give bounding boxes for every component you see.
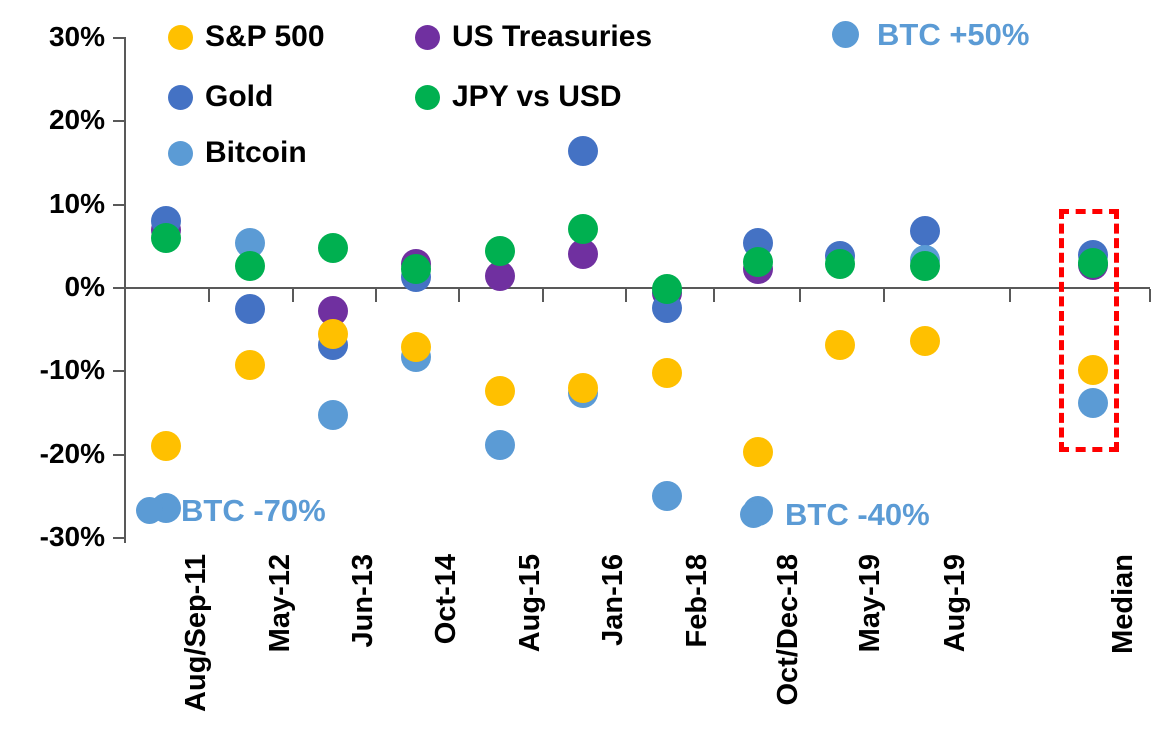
data-point bbox=[235, 294, 265, 324]
y-axis-label: 30% bbox=[9, 23, 105, 51]
gold-swatch-icon bbox=[168, 85, 193, 110]
x-axis-label: Jan-16 bbox=[597, 554, 630, 646]
scatter-chart: 30%20%10%0%-10%-20%-30% Aug/Sep-11May-12… bbox=[0, 0, 1151, 739]
y-axis-tick bbox=[113, 370, 124, 372]
legend-item-sp500[interactable]: S&P 500 bbox=[168, 22, 325, 52]
data-point bbox=[568, 214, 598, 244]
y-axis-label: -10% bbox=[9, 356, 105, 384]
y-axis-tick bbox=[113, 537, 124, 539]
data-point bbox=[1078, 248, 1108, 278]
y-axis-tick bbox=[113, 120, 124, 122]
annotation-btc-minus-40: BTC -40% bbox=[740, 499, 930, 530]
legend-item-jpy-vs-usd[interactable]: JPY vs USD bbox=[415, 82, 622, 112]
x-axis-tick bbox=[625, 289, 627, 302]
legend-label: Gold bbox=[205, 82, 273, 112]
x-axis-label: Aug-19 bbox=[939, 554, 972, 652]
x-axis-tick bbox=[458, 289, 460, 302]
y-axis-label: 20% bbox=[9, 106, 105, 134]
sp500-swatch-icon bbox=[168, 25, 193, 50]
data-point bbox=[910, 326, 940, 356]
data-point bbox=[743, 437, 773, 467]
data-point bbox=[1078, 355, 1108, 385]
x-axis-label: May-19 bbox=[854, 554, 887, 652]
legend-item-gold[interactable]: Gold bbox=[168, 82, 273, 112]
data-point bbox=[1078, 388, 1108, 418]
y-axis-label: -30% bbox=[9, 523, 105, 551]
legend-label: S&P 500 bbox=[205, 22, 325, 52]
data-point bbox=[235, 350, 265, 380]
y-axis-tick bbox=[113, 37, 124, 39]
data-point bbox=[910, 216, 940, 246]
data-point bbox=[568, 373, 598, 403]
annotation-label: BTC -70% bbox=[181, 495, 326, 526]
y-axis-tick bbox=[113, 204, 124, 206]
us-treasuries-swatch-icon bbox=[415, 25, 440, 50]
data-point bbox=[743, 247, 773, 277]
y-axis-tick bbox=[113, 454, 124, 456]
x-axis-label: Aug-15 bbox=[514, 554, 547, 652]
data-point bbox=[318, 233, 348, 263]
x-axis-label: Median bbox=[1107, 554, 1140, 654]
data-point bbox=[401, 254, 431, 284]
data-point bbox=[825, 330, 855, 360]
bitcoin-swatch-icon bbox=[168, 141, 193, 166]
data-point bbox=[910, 251, 940, 281]
annotation-btc-minus-70: BTC -70% bbox=[136, 495, 326, 526]
x-axis-tick bbox=[713, 289, 715, 302]
legend-label: US Treasuries bbox=[452, 22, 652, 52]
data-point bbox=[652, 274, 682, 304]
data-point bbox=[485, 236, 515, 266]
annotation-label: BTC +50% bbox=[877, 19, 1029, 50]
legend-label: Bitcoin bbox=[205, 138, 307, 168]
x-axis-tick bbox=[1009, 289, 1011, 302]
annotation-label: BTC -40% bbox=[785, 499, 930, 530]
x-axis-label: Jun-13 bbox=[347, 554, 380, 647]
jpy-vs-usd-swatch-icon bbox=[415, 85, 440, 110]
annotation-btc-plus-50: BTC +50% bbox=[832, 19, 1029, 50]
data-point bbox=[485, 376, 515, 406]
btc-dot-icon bbox=[740, 501, 767, 528]
y-axis-label: -20% bbox=[9, 440, 105, 468]
x-axis-tick bbox=[292, 289, 294, 302]
legend-label: JPY vs USD bbox=[452, 82, 622, 112]
x-axis-tick bbox=[883, 289, 885, 302]
data-point bbox=[235, 251, 265, 281]
y-axis-tick bbox=[113, 287, 124, 289]
data-point bbox=[151, 223, 181, 253]
x-axis-label: Feb-18 bbox=[681, 554, 714, 647]
x-axis-tick bbox=[208, 289, 210, 302]
data-point bbox=[401, 332, 431, 362]
legend-item-us-treasuries[interactable]: US Treasuries bbox=[415, 22, 652, 52]
x-axis-label: Oct-14 bbox=[430, 554, 463, 644]
data-point bbox=[652, 481, 682, 511]
x-axis-label: May-12 bbox=[264, 554, 297, 652]
legend-item-bitcoin[interactable]: Bitcoin bbox=[168, 138, 307, 168]
zero-baseline bbox=[124, 287, 1150, 289]
x-axis-tick bbox=[375, 289, 377, 302]
data-point bbox=[485, 430, 515, 460]
x-axis-tick bbox=[124, 289, 126, 302]
y-axis-label: 0% bbox=[9, 273, 105, 301]
data-point bbox=[318, 319, 348, 349]
btc-dot-icon bbox=[832, 21, 859, 48]
data-point bbox=[568, 136, 598, 166]
data-point bbox=[151, 431, 181, 461]
data-point bbox=[318, 400, 348, 430]
data-point bbox=[652, 358, 682, 388]
x-axis-label: Oct/Dec-18 bbox=[772, 554, 805, 706]
y-axis-label: 10% bbox=[9, 190, 105, 218]
x-axis-tick bbox=[542, 289, 544, 302]
x-axis-label: Aug/Sep-11 bbox=[180, 554, 213, 712]
x-axis-tick bbox=[799, 289, 801, 302]
btc-dot-icon bbox=[136, 497, 163, 524]
data-point bbox=[825, 249, 855, 279]
